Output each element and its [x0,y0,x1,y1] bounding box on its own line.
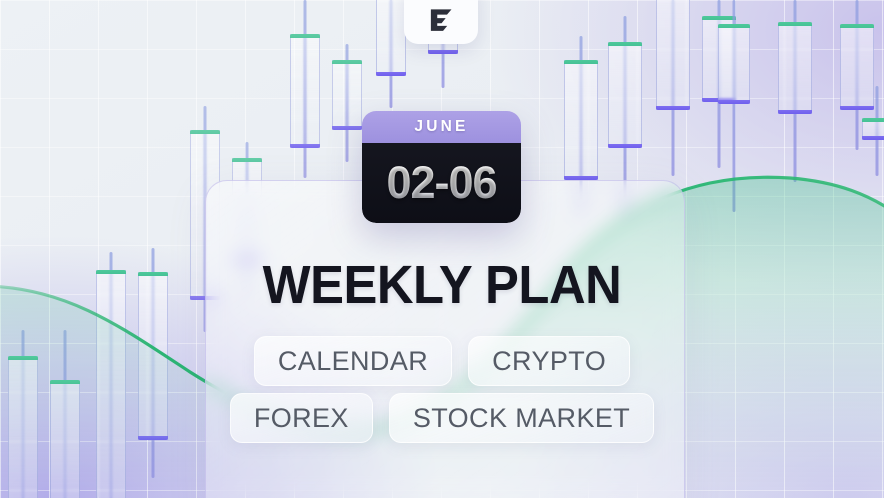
candle-wick [390,0,393,108]
candle-wick [876,86,879,176]
candle-wick [856,0,859,150]
candle-body [608,42,642,148]
candle-wick [304,0,307,178]
tag-row-primary: CALENDAR CRYPTO [0,336,884,386]
brand-logo-badge[interactable] [404,0,478,44]
candle-body [862,118,884,140]
candle-wick [718,0,721,168]
candle-body [718,24,750,104]
calendar-widget: JUNE 02-06 [362,111,521,223]
calendar-month-header: JUNE [362,111,521,143]
candle-wick [733,0,736,212]
tag-pill-crypto[interactable]: CRYPTO [468,336,630,386]
candle-body [702,16,736,102]
candle-body [290,34,320,148]
calendar-date-range: 02-06 [386,157,496,209]
candle-body [332,60,362,130]
tag-pill-stock-market[interactable]: STOCK MARKET [389,393,654,443]
poster-canvas: JUNE 02-06 WEEKLY PLAN CALENDAR CRYPTO F… [0,0,884,498]
candle-wick [794,0,797,182]
page-title: WEEKLY PLAN [27,254,858,316]
candle-body [778,22,812,114]
candle-body [376,0,406,76]
candle-body [656,0,690,110]
tag-pill-forex[interactable]: FOREX [230,393,373,443]
calendar-date-body: 02-06 [362,143,521,223]
tag-pill-calendar[interactable]: CALENDAR [254,336,452,386]
calendar-month-label: JUNE [414,118,468,136]
candle-wick [672,0,675,176]
tag-row-secondary: FOREX STOCK MARKET [0,393,884,443]
candle-body [564,60,598,180]
candle-body [840,24,874,110]
candle-wick [346,44,349,162]
chevron-mark-logo-icon [426,5,456,35]
